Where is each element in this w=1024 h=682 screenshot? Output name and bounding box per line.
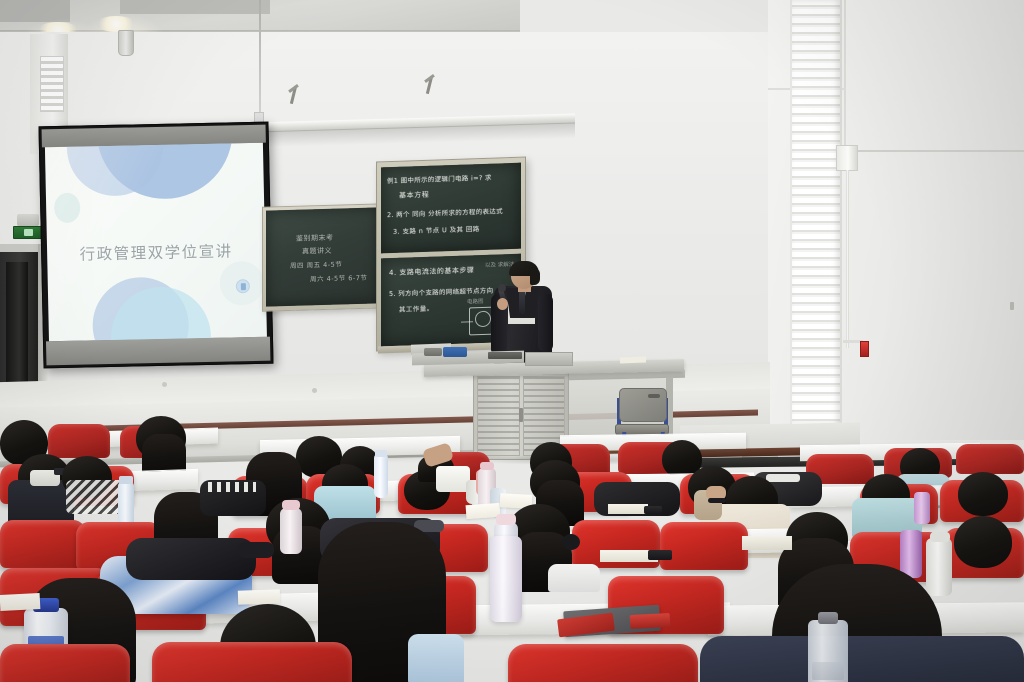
black-backpack [126, 538, 256, 580]
lecture-hall-photo: 行政管理双学位宣讲 鉴别期末考 真题讲义 周四 周五 4-5节 周六 4-5节 … [0, 0, 1024, 682]
seat[interactable] [152, 642, 352, 682]
wall-louver-vent [790, 0, 842, 432]
conduit-pipe [846, 170, 849, 348]
presenter-hand [497, 298, 508, 310]
white-thermos [926, 538, 952, 596]
notebook [742, 536, 792, 550]
chalk-line: 2. 两个 同向 分析所求的方程的表达式 [387, 205, 503, 219]
junction-box-icon [836, 145, 858, 171]
seat[interactable] [0, 644, 130, 682]
audience-area [0, 408, 1024, 682]
wall-fixture [312, 388, 317, 393]
wristwatch-icon [708, 498, 726, 503]
bag-strap [766, 474, 800, 482]
chalk-line: 例1 图中所示的逻辑门电路 i=? 求 [387, 172, 492, 185]
exit-sign-bracket [17, 214, 39, 226]
chalk-line: 4. 支路电流法的基本步骤 [389, 265, 474, 278]
bottle-label [812, 662, 844, 680]
smartphone-icon [648, 550, 672, 560]
bottle-cap [119, 476, 133, 484]
chalk-line: 鉴别期末考 [296, 233, 334, 244]
student-head [958, 472, 1008, 516]
wall-hook-icon [288, 86, 302, 104]
keyboard-icon [488, 352, 522, 359]
jacket-stripes [208, 482, 256, 492]
pink-flask [280, 508, 302, 554]
hair-tie [562, 534, 580, 550]
projection-screen: 行政管理双学位宣讲 [38, 122, 273, 369]
hanging-cord [259, 0, 261, 118]
exit-sign-icon [13, 226, 43, 239]
chalk-line: 其工作量。 [399, 303, 434, 314]
wall-fixture [162, 382, 167, 387]
chalk-diagram-label: 电路图 [467, 297, 484, 306]
purple-bottle [900, 530, 922, 578]
running-man-glyph [24, 229, 33, 236]
wall-vent-icon [40, 56, 64, 112]
student-shoulder [408, 634, 464, 682]
student-navy-jacket [700, 636, 1024, 682]
chalk-line: 真题讲义 [302, 246, 332, 257]
white-thermos [490, 536, 522, 622]
presenter-arm [538, 294, 553, 352]
student-body [548, 564, 600, 592]
wall-seam [844, 0, 846, 165]
wall-hook-icon [424, 76, 439, 96]
seat[interactable] [660, 522, 748, 570]
chalk-line: 周六 4-5节 6-7节 [310, 272, 367, 284]
seat[interactable] [48, 424, 110, 458]
thermos-cap [496, 514, 516, 525]
water-bottle [374, 454, 388, 498]
paper-sheet [0, 593, 40, 611]
thermos-cap [930, 532, 950, 542]
chalk-line: 5. 列方向个支路的网络超节点方向 [389, 285, 493, 298]
textbook-cover [630, 613, 671, 629]
podium-equipment-box [525, 352, 573, 366]
paper-sheet [620, 357, 646, 364]
flask-cap [282, 500, 300, 510]
screen-bottom-bar [46, 337, 270, 366]
blue-folder [443, 347, 467, 357]
student-head [954, 516, 1012, 568]
presenter-hair [530, 268, 540, 285]
bottle-neck [818, 612, 838, 624]
bottle-cap [375, 450, 387, 457]
ceiling-panel [120, 0, 270, 14]
seat[interactable] [956, 444, 1024, 474]
chalk-line: 基本方程 [399, 190, 429, 201]
loudspeaker-icon [118, 30, 134, 56]
flask-cap [480, 462, 494, 470]
purple-bottle [914, 492, 930, 524]
chair-back-slot [648, 394, 660, 398]
seat[interactable] [0, 520, 86, 568]
student-sleeve [436, 466, 470, 492]
paper-sheet [238, 589, 280, 604]
screen-glare [45, 143, 267, 342]
chalk-line: 3. 支路 n 节点 U 及其 回路 [393, 223, 480, 236]
chalk-line: 周四 周五 4-5节 [290, 258, 342, 269]
microphone-head [498, 284, 506, 292]
backpack-strap [238, 542, 274, 558]
smartphone-icon [644, 506, 662, 514]
blackboard-left: 鉴别期末考 真题讲义 周四 周五 4-5节 周六 4-5节 6-7节 [266, 207, 379, 306]
fire-alarm-icon [860, 341, 869, 357]
blackboard-right-upper: 例1 图中所示的逻辑门电路 i=? 求 基本方程 2. 两个 同向 分析所求的方… [381, 163, 521, 254]
podium-device [424, 348, 442, 356]
wall-seam [846, 150, 1024, 152]
seat[interactable] [508, 644, 698, 682]
notebook [608, 504, 648, 514]
presenter-tie [519, 291, 525, 313]
wall-fixture [1010, 302, 1014, 310]
